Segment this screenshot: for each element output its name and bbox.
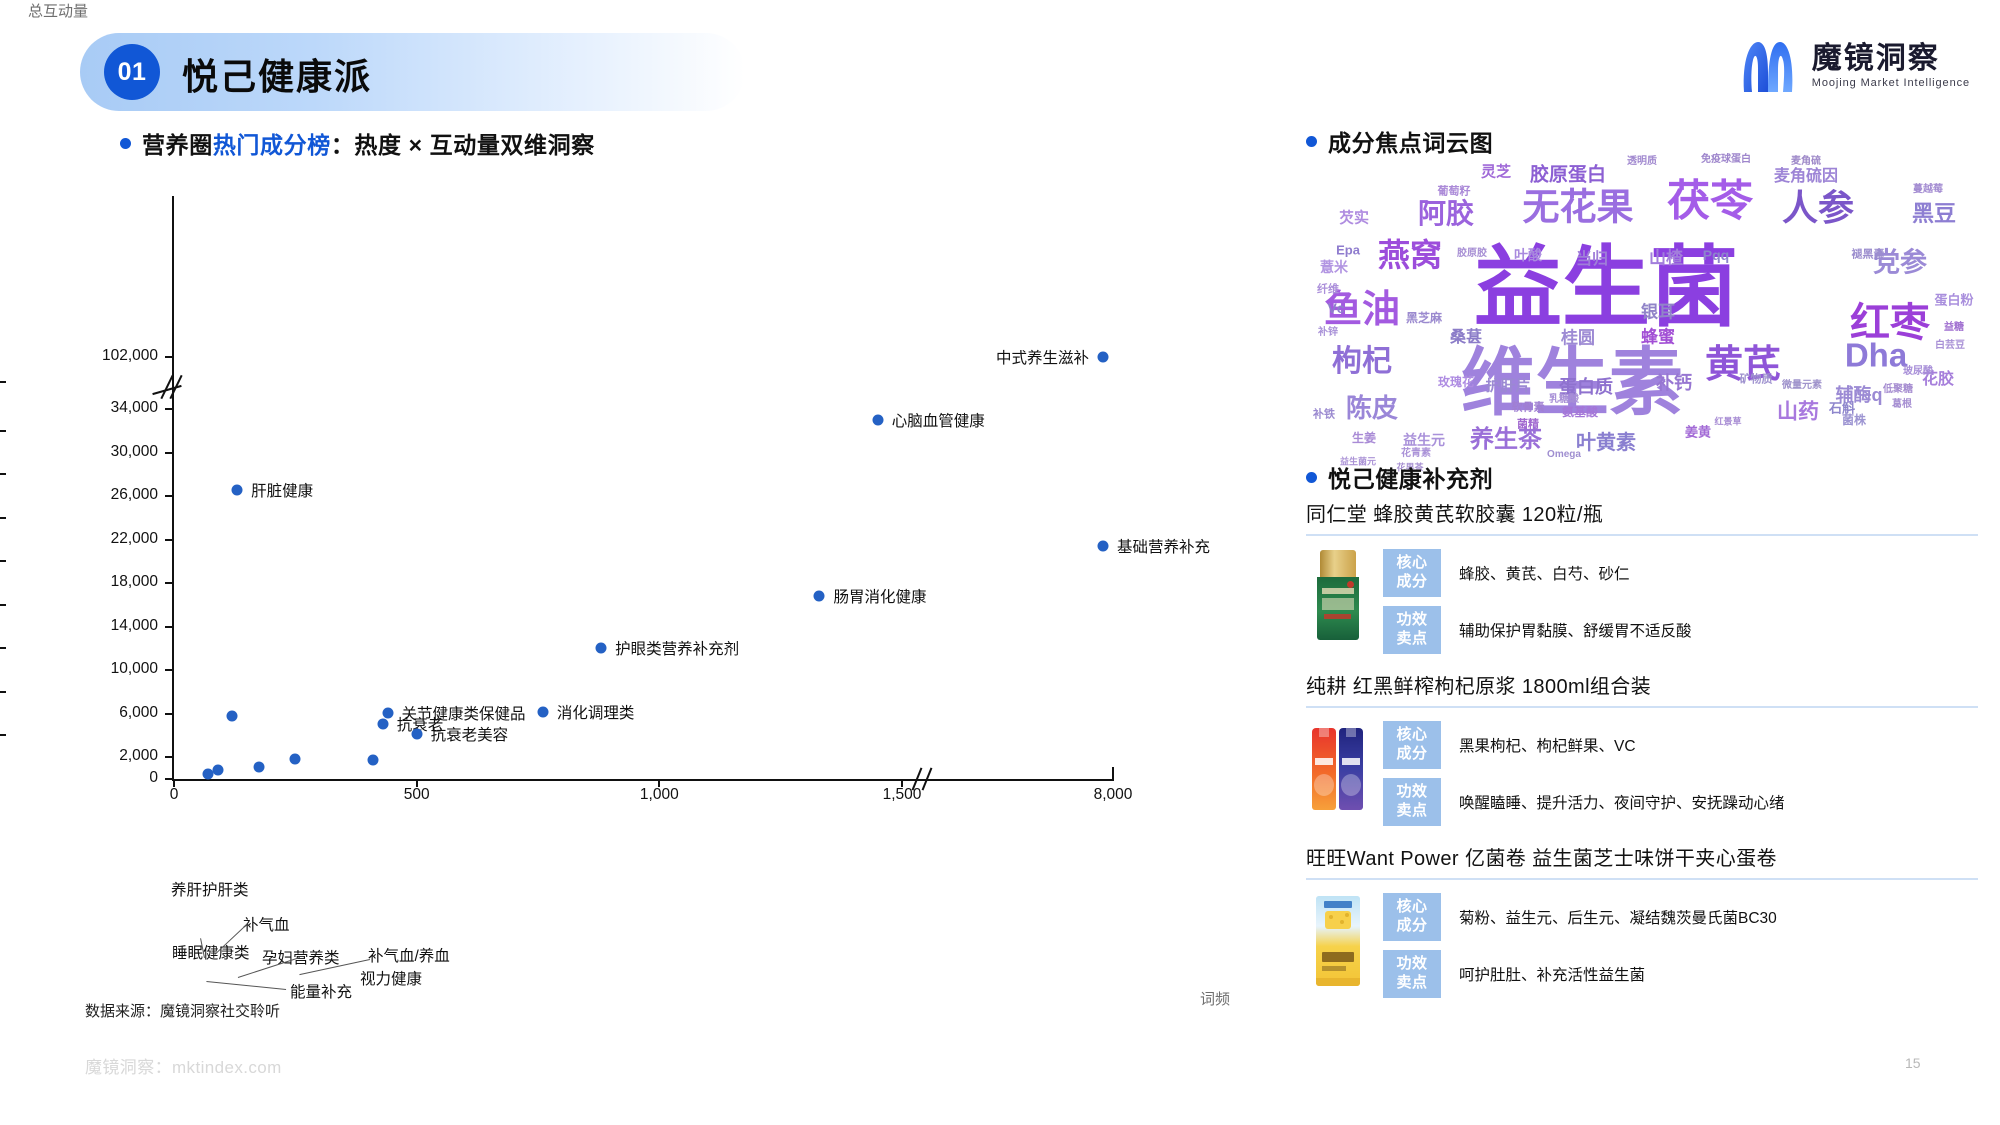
- wordcloud-word: 燕窝: [1378, 239, 1442, 271]
- wordcloud-word: 蔓越莓: [1913, 185, 1943, 195]
- chart-data-point: [411, 729, 422, 740]
- wordcloud-word: 乳糖酸: [1549, 395, 1579, 405]
- chart-title: 营养圈热门成分榜：热度 × 互动量双维洞察: [142, 126, 595, 160]
- product-name: 纯耕 红黑鲜榨枸杞原浆 1800ml组合装: [1306, 670, 1978, 699]
- wordcloud-word: 黑豆: [1912, 203, 1956, 225]
- chart-source-note: 数据来源：魔镜洞察社交聆听: [85, 1000, 280, 1021]
- core-ingredients-tag: 核心 成分: [1383, 893, 1441, 941]
- product-name: 同仁堂 蜂胶黄芪软胶囊 120粒/瓶: [1306, 498, 1978, 527]
- chart-y-tick-label: 18,000: [62, 573, 158, 591]
- product-core-row: 核心 成分 菊粉、益生元、后生元、凝结魏茨曼氏菌BC30: [1383, 893, 1777, 941]
- divider: [1306, 706, 1978, 708]
- chart-title-highlight: 热门成分榜: [213, 132, 331, 158]
- chart-y-tick-mark: [165, 539, 174, 541]
- chart-x-tick-mark: [416, 779, 418, 787]
- chart-data-point: [202, 769, 213, 780]
- wordcloud-word: 叶酸: [1514, 248, 1542, 262]
- wordcloud-word: 灵芝: [1481, 165, 1511, 180]
- wordcloud-word: 纤维: [1317, 285, 1339, 296]
- wordcloud-word: 养生茶: [1470, 428, 1542, 452]
- chart-y-tick-mark: [165, 626, 174, 628]
- chart-point-label: 睡眠健康类: [172, 941, 250, 963]
- bullet-dot-icon: [1306, 472, 1317, 483]
- chart-x-axis-end-cap: [1112, 767, 1114, 781]
- chart-data-point: [232, 484, 243, 495]
- wordcloud-word: 褪黑素: [1852, 250, 1885, 261]
- chart-y-tick-label: 10,000: [62, 660, 158, 678]
- header-banner: [80, 33, 745, 111]
- chart-y-tick-mark: [165, 669, 174, 671]
- wordcloud-word: 叶黄素: [1576, 433, 1636, 453]
- chart-data-point: [227, 710, 238, 721]
- tag-line-2: 卖点: [1396, 630, 1427, 649]
- chart-data-point: [377, 718, 388, 729]
- wordcloud-word: 麦角硫因: [1774, 169, 1838, 185]
- tag-line-1: 核心: [1396, 898, 1427, 917]
- chart-data-point: [253, 762, 264, 773]
- product-card: 纯耕 红黑鲜榨枸杞原浆 1800ml组合装 核心 成分 黑果枸杞、枸杞鲜果、VC…: [1306, 670, 1978, 826]
- chart-y-tick-mark: [165, 713, 174, 715]
- wordcloud-word: 补铁: [1313, 410, 1335, 421]
- chart-point-label: 心脑血管健康: [892, 409, 985, 431]
- chart-label-leader-line: [206, 981, 286, 990]
- wordcloud-word: 生姜: [1352, 432, 1376, 444]
- product-benefit-row: 功效 卖点 辅助保护胃黏膜、舒缓胃不适反酸: [1383, 606, 1692, 654]
- page-title: 悦己健康派: [182, 48, 372, 100]
- wordcloud-word: 软骨素: [1512, 403, 1545, 414]
- logo-name-cn: 魔镜洞察: [1812, 43, 1970, 75]
- core-ingredients-value: 蜂胶、黄芪、白芍、砂仁: [1459, 562, 1630, 584]
- divider: [1306, 878, 1978, 880]
- chart-point-label: 基础营养补充: [1117, 535, 1210, 557]
- wordcloud-word: 人参: [1782, 190, 1854, 226]
- chart-data-point: [872, 414, 883, 425]
- chart-section-heading: 营养圈热门成分榜：热度 × 互动量双维洞察: [120, 126, 595, 160]
- wordcloud-word: Dha: [1845, 339, 1907, 372]
- wordcloud-word: 胶原胶: [1457, 249, 1487, 259]
- wordcloud-word: Pqq: [1703, 248, 1729, 262]
- benefits-value: 辅助保护胃黏膜、舒缓胃不适反酸: [1459, 619, 1692, 641]
- tag-line-2: 成分: [1396, 917, 1427, 936]
- chart-y-tick-label: 30,000: [62, 443, 158, 461]
- chart-data-point: [382, 708, 393, 719]
- wordcloud-word: 矿物质: [1740, 375, 1773, 386]
- chart-y-tick-label: 6,000: [62, 704, 158, 722]
- core-ingredients-tag: 核心 成分: [1383, 721, 1441, 769]
- chart-y-tick-label: 0: [62, 769, 158, 787]
- chart-y-axis-label: 总互动量: [28, 0, 88, 21]
- benefits-value: 呵护肚肚、补充活性益生菌: [1459, 963, 1645, 985]
- chart-point-label: 护眼类营养补充剂: [615, 637, 739, 659]
- chart-y-axis-line: [172, 196, 174, 781]
- section-number-badge: 01: [104, 44, 160, 100]
- wordcloud-word: 芡实: [1339, 211, 1369, 226]
- wordcloud-word: 菌精: [1517, 420, 1539, 431]
- page-number: 15: [1905, 1055, 1921, 1071]
- product-benefit-row: 功效 卖点 唤醒瞌睡、提升活力、夜间守护、安抚躁动心绪: [1383, 778, 1785, 826]
- chart-data-point: [814, 591, 825, 602]
- wordcloud: 益生菌维生素茯苓无花果人参红枣黄芪鱼油燕窝枸杞阿胶Dha党参陈皮胶原蛋白养生茶黑…: [1306, 150, 1976, 440]
- wordcloud-word: Epa: [1336, 244, 1360, 257]
- chart-y-tick-label: 102,000: [62, 347, 158, 365]
- tag-line-2: 成分: [1396, 573, 1427, 592]
- wordcloud-word: 茯苓: [1667, 181, 1753, 224]
- benefits-tag: 功效 卖点: [1383, 950, 1441, 998]
- product-benefit-row: 功效 卖点 呵护肚肚、补充活性益生菌: [1383, 950, 1777, 998]
- chart-x-tick-label: 1,000: [614, 786, 704, 804]
- wordcloud-word: 当归: [1576, 252, 1608, 268]
- chart-point-label: 补气血/养血: [368, 944, 450, 966]
- chart-y-tick-mark-minor: [0, 430, 6, 432]
- wordcloud-word: 葡萄籽: [1438, 187, 1471, 198]
- chart-y-tick-mark: [165, 495, 174, 497]
- tag-line-1: 功效: [1396, 783, 1427, 802]
- wordcloud-word: 玻尿酸: [1903, 367, 1933, 377]
- wordcloud-word: 姜黄: [1685, 426, 1711, 439]
- wordcloud-word: 补钙: [1656, 374, 1692, 392]
- chart-data-point: [596, 643, 607, 654]
- chart-point-label: 中式养生滋补: [996, 346, 1089, 368]
- wordcloud-word: 益糖: [1944, 323, 1964, 333]
- chart-y-tick-label: 2,000: [62, 747, 158, 765]
- chart-point-label: 养肝护肝类: [171, 878, 249, 900]
- chart-x-axis-far-segment: [950, 779, 1113, 781]
- chart-y-tick-mark-minor: [0, 381, 6, 383]
- chart-point-label: 肠胃消化健康: [833, 585, 926, 607]
- product-image: [1306, 890, 1370, 986]
- wordcloud-word: Omega: [1547, 450, 1581, 460]
- chart-x-tick-label: 8,000: [1068, 786, 1158, 804]
- scatter-chart: [110, 160, 1000, 840]
- core-ingredients-value: 菊粉、益生元、后生元、凝结魏茨曼氏菌BC30: [1459, 906, 1777, 928]
- wordcloud-word: 低聚糖: [1883, 385, 1913, 395]
- chart-point-label: 消化调理类: [557, 701, 635, 723]
- wordcloud-word: 黑芝麻: [1406, 312, 1442, 324]
- chart-data-point: [367, 754, 378, 765]
- wordcloud-word: 胶原蛋白: [1530, 166, 1606, 185]
- wordcloud-word: 透明质: [1627, 157, 1657, 167]
- chart-x-axis-label: 词频: [1200, 988, 1230, 1009]
- wordcloud-word: Vc: [1327, 301, 1344, 315]
- chart-data-point: [1098, 541, 1109, 552]
- chart-y-tick-mark-minor: [0, 691, 6, 693]
- chart-x-tick-mark: [173, 779, 175, 787]
- tag-line-1: 核心: [1396, 726, 1427, 745]
- chart-y-tick-mark: [165, 452, 174, 454]
- chart-point-label: 补气血: [243, 913, 290, 935]
- wordcloud-word: 白芸豆: [1935, 341, 1965, 351]
- product-card: 同仁堂 蜂胶黄芪软胶囊 120粒/瓶 核心 成分 蜂胶、黄芪、白芍、砂仁 功效 …: [1306, 498, 1978, 654]
- tag-line-2: 卖点: [1396, 802, 1427, 821]
- wordcloud-word: 益生元: [1403, 433, 1445, 447]
- chart-y-tick-mark-minor: [0, 604, 6, 606]
- tag-line-1: 功效: [1396, 611, 1427, 630]
- tag-line-1: 功效: [1396, 955, 1427, 974]
- tag-line-1: 核心: [1396, 554, 1427, 573]
- chart-data-point: [1098, 352, 1109, 363]
- benefits-value: 唤醒瞌睡、提升活力、夜间守护、安抚躁动心绪: [1459, 791, 1785, 813]
- chart-y-tick-mark: [165, 756, 174, 758]
- footer-watermark: 魔镜洞察：mktindex.com: [85, 1053, 282, 1078]
- wordcloud-word: 薏米: [1320, 260, 1348, 274]
- product-core-row: 核心 成分 黑果枸杞、枸杞鲜果、VC: [1383, 721, 1785, 769]
- chart-y-tick-mark: [165, 408, 174, 410]
- wordcloud-word: 枸杞: [1332, 347, 1392, 377]
- products-section-heading: 悦己健康补充剂: [1306, 460, 1493, 494]
- chart-y-tick-label: 26,000: [62, 486, 158, 504]
- chart-point-label: 肝脏健康: [251, 479, 313, 501]
- divider: [1306, 534, 1978, 536]
- moojing-m-logo-icon: [1738, 38, 1798, 94]
- product-name: 旺旺Want Power 亿菌卷 益生菌芝士味饼干夹心蛋卷: [1306, 842, 1978, 871]
- chart-title-prefix: 营养圈: [142, 132, 213, 158]
- chart-point-label: 抗衰老美容: [431, 723, 509, 745]
- wordcloud-word: 补锌: [1318, 328, 1338, 338]
- brand-logo: 魔镜洞察 Moojing Market Intelligence: [1738, 38, 1970, 94]
- tag-line-2: 成分: [1396, 745, 1427, 764]
- chart-y-tick-mark-minor: [0, 734, 6, 736]
- product-core-row: 核心 成分 蜂胶、黄芪、白芍、砂仁: [1383, 549, 1692, 597]
- chart-y-tick-mark-minor: [0, 517, 6, 519]
- chart-data-point: [212, 764, 223, 775]
- chart-y-tick-label: 14,000: [62, 617, 158, 635]
- wordcloud-word: 山楂: [1649, 250, 1683, 267]
- chart-y-tick-label: 22,000: [62, 530, 158, 548]
- chart-point-label: 视力健康: [360, 967, 422, 989]
- chart-point-label: 能量补充: [290, 980, 352, 1002]
- wordcloud-word: 陈皮: [1346, 395, 1398, 421]
- wordcloud-word: 蛋白粉: [1934, 294, 1973, 307]
- bullet-dot-icon: [120, 138, 131, 149]
- wordcloud-word: 微量元素: [1782, 381, 1822, 391]
- tag-line-2: 卖点: [1396, 974, 1427, 993]
- chart-data-point: [537, 706, 548, 717]
- wordcloud-word: 银耳: [1641, 304, 1675, 321]
- wordcloud-word: 蜂蜜: [1641, 329, 1675, 346]
- wordcloud-word: 玫瑰花: [1438, 376, 1474, 388]
- wordcloud-word: 氨基酸: [1562, 406, 1598, 418]
- wordcloud-word: 无花果: [1523, 189, 1634, 226]
- wordcloud-word: 免疫球蛋白: [1701, 155, 1751, 165]
- wordcloud-word: 花青素: [1401, 449, 1431, 459]
- chart-title-suffix: ：热度 × 互动量双维洞察: [331, 132, 595, 158]
- chart-y-tick-mark-minor: [0, 647, 6, 649]
- core-ingredients-tag: 核心 成分: [1383, 549, 1441, 597]
- product-image: [1306, 546, 1370, 642]
- logo-name-en: Moojing Market Intelligence: [1812, 77, 1970, 89]
- chart-y-tick-mark: [165, 356, 174, 358]
- benefits-tag: 功效 卖点: [1383, 778, 1441, 826]
- chart-data-point: [290, 753, 301, 764]
- chart-x-tick-label: 500: [372, 786, 462, 804]
- chart-x-axis-line: [172, 779, 952, 781]
- wordcloud-word: 菌株: [1842, 414, 1866, 426]
- wordcloud-word: 桑葚: [1450, 330, 1482, 346]
- wordcloud-word: 红景草: [1714, 418, 1741, 427]
- chart-y-tick-mark: [165, 582, 174, 584]
- chart-x-tick-label: 1,500: [857, 786, 947, 804]
- wordcloud-word: 山药: [1777, 402, 1819, 423]
- chart-y-tick-label: 34,000: [62, 399, 158, 417]
- chart-x-tick-mark: [901, 779, 903, 787]
- wordcloud-word: 麦角硫: [1791, 157, 1821, 167]
- wordcloud-word: 葛根: [1892, 400, 1912, 410]
- chart-x-tick-label: 0: [129, 786, 219, 804]
- products-title: 悦己健康补充剂: [1328, 460, 1493, 494]
- product-image: [1306, 718, 1370, 814]
- core-ingredients-value: 黑果枸杞、枸杞鲜果、VC: [1459, 734, 1636, 756]
- chart-x-tick-mark: [658, 779, 660, 787]
- wordcloud-word: 护肝片: [1485, 379, 1530, 394]
- wordcloud-word: 桂圆: [1561, 330, 1595, 347]
- chart-y-tick-mark-minor: [0, 560, 6, 562]
- chart-y-tick-mark-minor: [0, 473, 6, 475]
- bullet-dot-icon: [1306, 136, 1317, 147]
- wordcloud-word: 阿胶: [1418, 200, 1474, 228]
- benefits-tag: 功效 卖点: [1383, 606, 1441, 654]
- product-card: 旺旺Want Power 亿菌卷 益生菌芝士味饼干夹心蛋卷 核心 成分 菊粉、益…: [1306, 842, 1978, 998]
